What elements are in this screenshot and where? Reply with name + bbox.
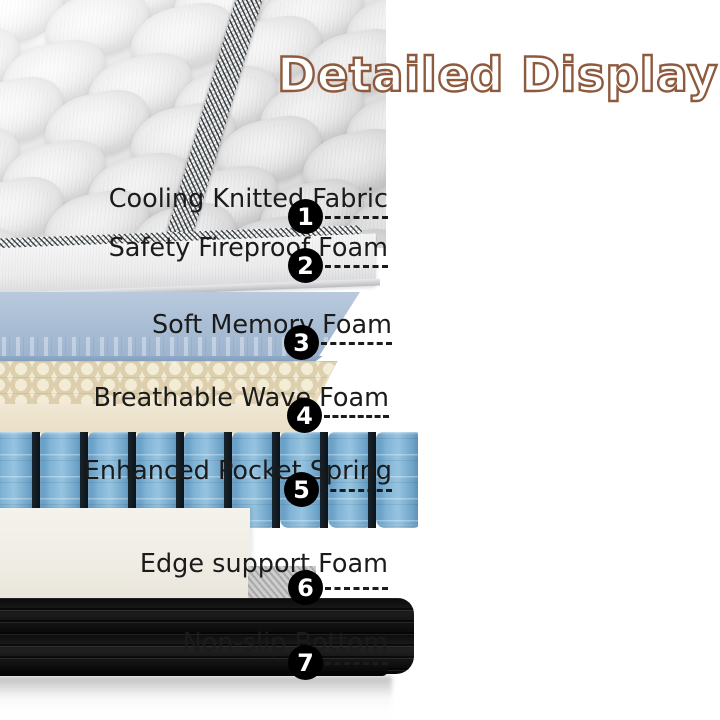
callout-leader-line-4 [324,415,389,418]
callout-leader-line-3 [321,342,392,345]
callout-badge-7[interactable]: 7 [288,645,323,680]
detailed-display-infographic: Detailed Display 1Cooling Knitted Fabric… [0,0,720,720]
callout-leader-line-7 [325,662,388,665]
callout-label-2: Safety Fireproof Foam [0,233,388,263]
callout-badge-5[interactable]: 5 [284,472,319,507]
callout-leader-line-1 [325,216,388,219]
mattress-cutaway-illustration [0,0,430,720]
floor-reflection [0,676,392,716]
callout-badge-2[interactable]: 2 [288,248,323,283]
page-title: Detailed Display [320,44,718,106]
callout-label-6: Edge support Foam [0,549,388,579]
callout-leader-line-5 [321,489,392,492]
callout-badge-4[interactable]: 4 [287,398,322,433]
callout-label-3: Soft Memory Foam [0,310,392,340]
callout-leader-line-2 [325,265,388,268]
callout-label-5: Enhanced Pocket Spring [0,456,392,486]
callout-label-1: Cooling Knitted Fabric [0,184,388,214]
callout-leader-line-6 [325,587,388,590]
callout-label-7: Non-slip Bottom [0,628,388,658]
callout-badge-6[interactable]: 6 [288,570,323,605]
layer-7-base-lip [0,664,388,676]
callout-badge-1[interactable]: 1 [288,199,323,234]
callout-badge-3[interactable]: 3 [284,325,319,360]
callout-label-4: Breathable Wave Foam [0,383,389,413]
